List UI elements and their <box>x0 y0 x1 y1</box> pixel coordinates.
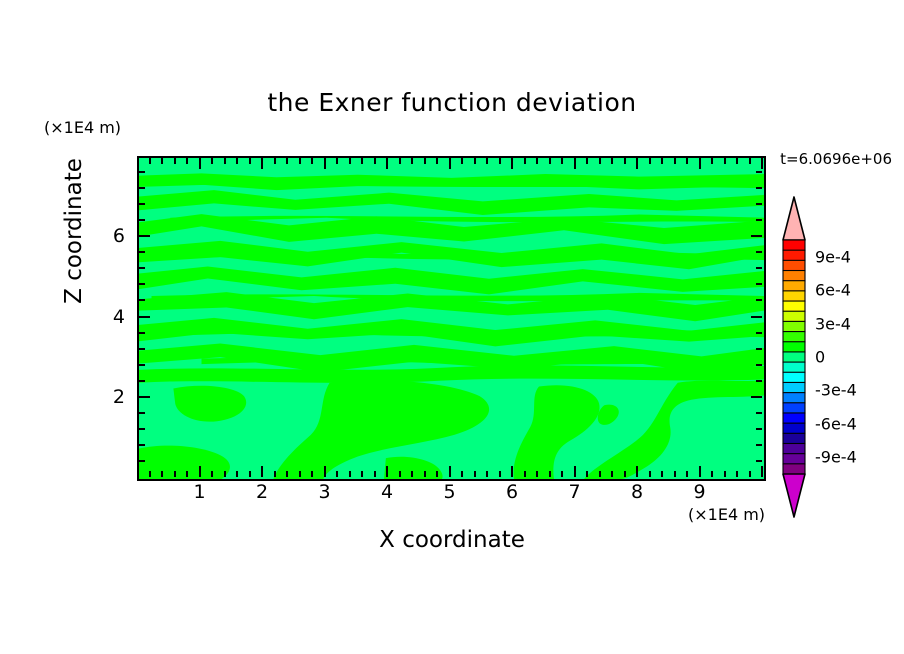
tick-x-top <box>499 158 501 164</box>
tick-x-top <box>386 158 388 169</box>
tick-x-top <box>424 158 426 164</box>
tick-x-top <box>661 158 663 164</box>
tick-x-bottom <box>286 471 288 477</box>
tick-x-top <box>511 158 513 169</box>
tick-x-top <box>236 158 238 164</box>
tick-y-left <box>139 267 145 269</box>
contour-band <box>139 190 764 215</box>
colorbar-band <box>783 260 805 271</box>
y-tick-label: 2 <box>97 386 125 408</box>
tick-x-bottom <box>736 471 738 477</box>
x-tick-label: 1 <box>193 481 205 503</box>
colorbar-band <box>783 250 805 261</box>
x-tick-label: 8 <box>631 481 643 503</box>
tick-x-bottom <box>499 471 501 477</box>
colorbar-band <box>783 403 805 414</box>
tick-x-bottom <box>274 471 276 477</box>
tick-y-right <box>756 283 762 285</box>
colorbar-tick-label: 6e-4 <box>815 281 851 300</box>
tick-y-right <box>751 235 762 237</box>
colorbar-band <box>783 332 805 343</box>
tick-x-bottom <box>424 471 426 477</box>
tick-x-top <box>311 158 313 164</box>
tick-x-bottom <box>436 471 438 477</box>
tick-x-top <box>411 158 413 164</box>
tick-x-top <box>486 158 488 164</box>
tick-y-left <box>139 283 145 285</box>
colorbar-band <box>783 301 805 312</box>
tick-x-bottom <box>349 471 351 477</box>
tick-y-left <box>139 380 145 382</box>
x-tick-label: 2 <box>256 481 268 503</box>
tick-y-right <box>756 203 762 205</box>
tick-x-bottom <box>361 471 363 477</box>
tick-y-left <box>139 203 145 205</box>
tick-y-left <box>139 251 145 253</box>
colorbar-band <box>783 291 805 302</box>
x-axis-unit-label: (×1E4 m) <box>688 505 765 524</box>
tick-x-bottom <box>324 466 326 477</box>
colorbar-tick-label: 9e-4 <box>815 247 851 266</box>
colorbar-tick-label: -3e-4 <box>815 381 857 400</box>
tick-x-bottom <box>599 471 601 477</box>
colorbar-band <box>783 413 805 424</box>
tick-x-top <box>561 158 563 164</box>
colorbar-band <box>783 321 805 332</box>
tick-x-bottom <box>699 466 701 477</box>
tick-y-right <box>756 348 762 350</box>
tick-x-bottom <box>261 466 263 477</box>
tick-x-top <box>574 158 576 169</box>
x-tick-label: 4 <box>381 481 393 503</box>
x-axis-title: X coordinate <box>0 527 904 553</box>
tick-y-right <box>756 299 762 301</box>
tick-x-bottom <box>411 471 413 477</box>
contour-streak <box>170 214 764 222</box>
tick-y-right <box>751 396 762 398</box>
tick-x-bottom <box>199 466 201 477</box>
x-tick-label: 3 <box>318 481 330 503</box>
tick-x-bottom <box>586 471 588 477</box>
colorbar-band <box>783 240 805 251</box>
tick-x-bottom <box>636 466 638 477</box>
tick-x-top <box>449 158 451 169</box>
tick-y-right <box>756 428 762 430</box>
tick-y-left <box>139 412 145 414</box>
tick-x-top <box>649 158 651 164</box>
colorbar-band <box>783 443 805 454</box>
tick-y-left <box>139 444 145 446</box>
y-tick-label: 4 <box>97 306 125 328</box>
tick-x-top <box>524 158 526 164</box>
tick-x-bottom <box>236 471 238 477</box>
tick-x-top <box>724 158 726 164</box>
colorbar-band <box>783 433 805 444</box>
tick-x-top <box>586 158 588 164</box>
tick-y-right <box>756 219 762 221</box>
colorbar-band <box>783 382 805 393</box>
tick-x-bottom <box>749 471 751 477</box>
colorbar-band <box>783 372 805 383</box>
tick-x-bottom <box>474 471 476 477</box>
colorbar-over-arrow <box>783 197 805 240</box>
tick-x-top <box>324 158 326 169</box>
tick-y-left <box>139 299 145 301</box>
tick-x-bottom <box>661 471 663 477</box>
colorbar-band <box>783 423 805 434</box>
contour-blob <box>598 405 619 425</box>
tick-y-left <box>139 316 150 318</box>
colorbar-band <box>783 342 805 353</box>
tick-x-bottom <box>611 471 613 477</box>
tick-y-left <box>139 460 145 462</box>
tick-x-bottom <box>336 471 338 477</box>
tick-x-bottom <box>211 471 213 477</box>
tick-x-top <box>149 158 151 164</box>
contour-blob <box>173 386 246 422</box>
tick-x-top <box>474 158 476 164</box>
tick-x-top <box>761 158 763 169</box>
x-tick-label: 5 <box>443 481 455 503</box>
tick-y-right <box>756 187 762 189</box>
x-tick-label: 6 <box>506 481 518 503</box>
tick-x-top <box>436 158 438 164</box>
tick-x-bottom <box>536 471 538 477</box>
y-tick-label: 6 <box>97 225 125 247</box>
tick-y-right <box>756 380 762 382</box>
colorbar-tick-label: 3e-4 <box>815 314 851 333</box>
colorbar-tick-label: -6e-4 <box>815 414 857 433</box>
tick-x-bottom <box>224 471 226 477</box>
tick-x-bottom <box>149 471 151 477</box>
tick-y-right <box>756 332 762 334</box>
colorbar-under-arrow <box>783 474 805 517</box>
tick-y-left <box>139 171 145 173</box>
tick-y-left <box>139 219 145 221</box>
tick-x-bottom <box>186 471 188 477</box>
chart-root: the Exner function deviation (×1E4 m) t=… <box>0 0 904 654</box>
tick-x-bottom <box>249 471 251 477</box>
tick-x-top <box>749 158 751 164</box>
tick-y-right <box>751 316 762 318</box>
x-tick-label: 7 <box>568 481 580 503</box>
tick-x-top <box>536 158 538 164</box>
tick-x-top <box>336 158 338 164</box>
contour-blob <box>514 385 600 479</box>
tick-x-top <box>686 158 688 164</box>
colorbar-band <box>783 281 805 292</box>
tick-x-top <box>261 158 263 169</box>
tick-x-bottom <box>399 471 401 477</box>
tick-x-top <box>199 158 201 169</box>
contour-plot-area <box>137 156 766 481</box>
colorbar-band <box>783 464 805 475</box>
tick-x-bottom <box>374 471 376 477</box>
tick-y-right <box>756 171 762 173</box>
tick-y-right <box>756 460 762 462</box>
tick-x-top <box>374 158 376 164</box>
tick-y-left <box>139 187 145 189</box>
time-annotation: t=6.0696e+06 <box>780 150 892 168</box>
tick-x-bottom <box>461 471 463 477</box>
tick-y-left <box>139 348 145 350</box>
tick-x-bottom <box>524 471 526 477</box>
tick-x-top <box>549 158 551 164</box>
tick-x-top <box>361 158 363 164</box>
contour-blob <box>139 365 764 383</box>
tick-x-bottom <box>711 471 713 477</box>
tick-x-top <box>711 158 713 164</box>
tick-x-top <box>599 158 601 164</box>
tick-x-top <box>249 158 251 164</box>
tick-x-bottom <box>674 471 676 477</box>
tick-y-right <box>756 267 762 269</box>
tick-x-bottom <box>486 471 488 477</box>
tick-x-top <box>624 158 626 164</box>
tick-x-top <box>736 158 738 164</box>
tick-y-left <box>139 235 150 237</box>
tick-x-bottom <box>686 471 688 477</box>
tick-y-left <box>139 428 145 430</box>
tick-x-bottom <box>649 471 651 477</box>
tick-x-top <box>174 158 176 164</box>
contour-blob <box>139 446 230 479</box>
tick-x-bottom <box>299 471 301 477</box>
colorbar-band <box>783 271 805 282</box>
contour-band <box>139 266 764 294</box>
tick-x-top <box>299 158 301 164</box>
tick-x-bottom <box>561 471 563 477</box>
tick-x-top <box>636 158 638 169</box>
tick-x-bottom <box>511 466 513 477</box>
tick-x-bottom <box>624 471 626 477</box>
colorbar-band <box>783 362 805 373</box>
tick-x-top <box>611 158 613 164</box>
contour-blob <box>584 380 764 479</box>
tick-y-right <box>756 412 762 414</box>
tick-y-left <box>139 332 145 334</box>
colorbar-band <box>783 352 805 363</box>
tick-x-top <box>274 158 276 164</box>
colorbar <box>780 196 808 518</box>
colorbar-band <box>783 311 805 322</box>
tick-x-top <box>674 158 676 164</box>
tick-x-top <box>699 158 701 169</box>
tick-x-bottom <box>574 466 576 477</box>
tick-x-top <box>349 158 351 164</box>
tick-x-bottom <box>311 471 313 477</box>
colorbar-tick-label: 0 <box>815 348 825 367</box>
tick-x-top <box>286 158 288 164</box>
colorbar-tick-label: -9e-4 <box>815 448 857 467</box>
tick-x-top <box>186 158 188 164</box>
tick-x-top <box>224 158 226 164</box>
tick-x-top <box>161 158 163 164</box>
page-title: the Exner function deviation <box>0 88 904 117</box>
contour-blob <box>273 380 489 479</box>
tick-x-bottom <box>449 466 451 477</box>
tick-x-bottom <box>761 466 763 477</box>
tick-y-left <box>139 364 145 366</box>
tick-x-top <box>461 158 463 164</box>
tick-x-bottom <box>386 466 388 477</box>
y-axis-title: Z coordinate <box>61 131 87 331</box>
tick-y-left <box>139 396 150 398</box>
tick-x-top <box>399 158 401 164</box>
x-tick-label: 9 <box>693 481 705 503</box>
tick-y-right <box>756 251 762 253</box>
tick-x-bottom <box>174 471 176 477</box>
tick-x-bottom <box>549 471 551 477</box>
colorbar-band <box>783 393 805 404</box>
tick-x-bottom <box>724 471 726 477</box>
contour-field <box>139 158 764 479</box>
tick-y-right <box>756 364 762 366</box>
tick-x-bottom <box>161 471 163 477</box>
contour-blob <box>384 457 443 479</box>
colorbar-band <box>783 454 805 465</box>
tick-y-right <box>756 444 762 446</box>
tick-x-top <box>211 158 213 164</box>
